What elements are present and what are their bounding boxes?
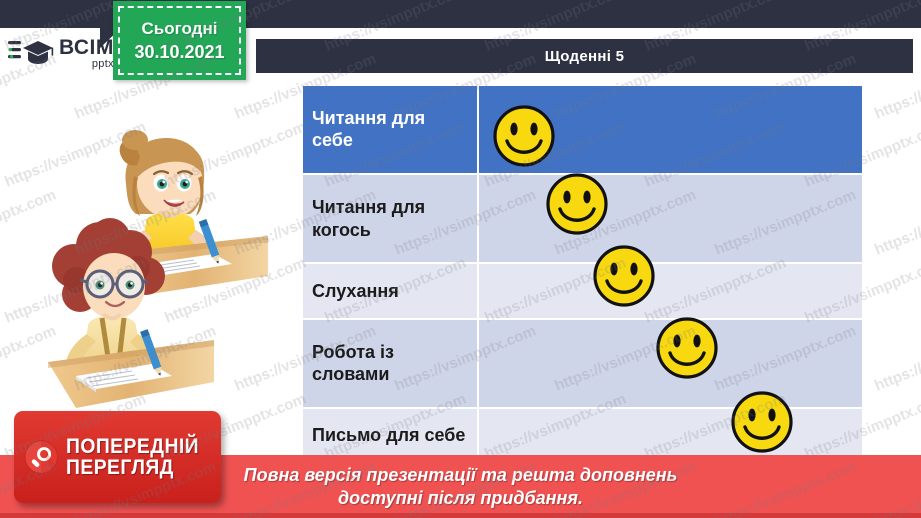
activity-face-cell	[478, 408, 862, 462]
activity-face-cell	[478, 174, 862, 263]
smiley-face-icon	[655, 316, 719, 380]
preview-badge-text: ПОПЕРЕДНІЙ ПЕРЕГЛЯД	[66, 436, 211, 479]
preview-line-1: ПОПЕРЕДНІЙ	[66, 436, 199, 457]
activity-label: Письмо для себе	[303, 408, 478, 462]
brand-suffix: pptx	[59, 59, 114, 70]
activity-label: Читання для себе	[303, 86, 478, 174]
smiley-face-icon	[730, 390, 794, 454]
brand-logo: ВСІМ pptx	[8, 30, 128, 76]
preview-line-2: ПЕРЕГЛЯД	[66, 457, 199, 478]
today-date: 30.10.2021	[134, 42, 224, 63]
table-row[interactable]: Читання для себе	[303, 86, 862, 174]
presentation-slide: ВСІМ pptx Сьогодні 30.10.2021 Щоденні 5	[0, 0, 921, 518]
page-title: Щоденні 5	[545, 48, 625, 65]
banner-line-1: Повна версія презентації та решта доповн…	[244, 464, 678, 487]
activity-label: Слухання	[303, 263, 478, 318]
table-row[interactable]: Слухання	[303, 263, 862, 318]
graduation-cap-icon	[8, 35, 54, 71]
banner-line-2: доступні після придбання.	[338, 487, 583, 510]
slide-title-bar: Щоденні 5	[256, 39, 913, 73]
magnifier-icon	[24, 424, 58, 490]
activity-face-cell	[478, 263, 862, 318]
brand-name: ВСІМ	[59, 37, 114, 58]
activity-label: Читання для когось	[303, 174, 478, 263]
smiley-face-icon	[545, 172, 609, 236]
activity-label: Робота із словами	[303, 319, 478, 408]
today-date-badge: Сьогодні 30.10.2021	[113, 1, 246, 80]
smiley-face-icon	[592, 244, 656, 308]
brand-wordmark: ВСІМ pptx	[59, 37, 114, 70]
graduation-cap-glyph	[21, 37, 55, 71]
smiley-face-icon	[492, 104, 556, 168]
today-label: Сьогодні	[142, 19, 218, 39]
two-children-writing-illustration	[18, 118, 270, 413]
preview-badge: ПОПЕРЕДНІЙ ПЕРЕГЛЯД	[14, 411, 221, 503]
